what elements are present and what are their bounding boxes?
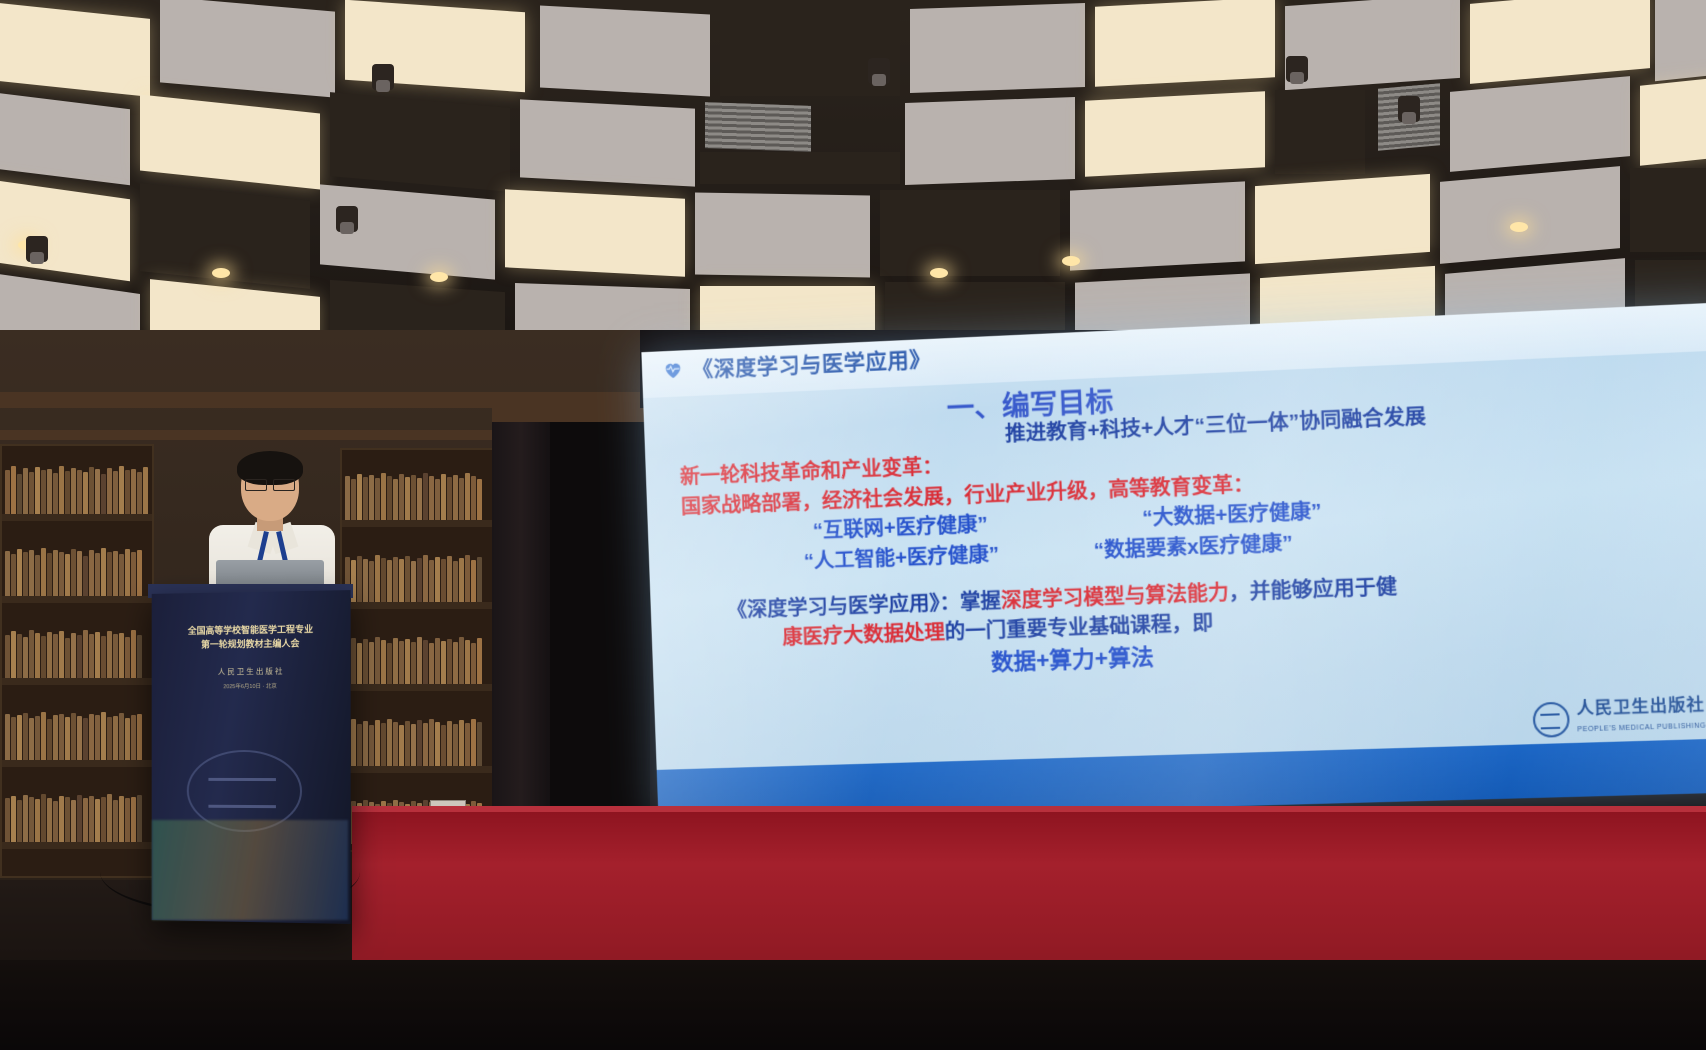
publisher-name-en: PEOPLE'S MEDICAL PUBLISHING HOUSE	[1577, 721, 1706, 733]
ceiling-downlight	[930, 268, 948, 278]
slide-line-5a: “人工智能+医疗健康”	[804, 544, 1000, 572]
photo-scene: 《深度学习与医学应用》 一、编写目标 推进教育+科技+人才“三位一体”协同融合发…	[0, 0, 1706, 1050]
podium-sign-line-2: 第一轮规划教材主编人会	[163, 637, 338, 653]
spotlight	[1398, 96, 1420, 122]
spotlight	[336, 206, 358, 232]
paragraph-seg-b: 深度学习模型与算法能力	[1001, 582, 1230, 613]
ceiling-downlight	[212, 268, 230, 278]
dark-doorway	[550, 418, 650, 838]
foreground-floor	[0, 960, 1706, 1050]
slide-body: 推进教育+科技+人才“三位一体”协同融合发展 新一轮科技革命和产业变革： 国家战…	[679, 395, 1706, 693]
paragraph-seg-a: 《深度学习与医学应用》：掌握	[727, 590, 1002, 622]
spotlight	[372, 64, 394, 90]
podium-light-reflection	[152, 820, 348, 920]
heart-pulse-icon	[662, 358, 685, 381]
ceiling-downlight	[1062, 256, 1080, 266]
paragraph-seg-c: ，并能够应用于健	[1228, 576, 1397, 605]
paragraph-seg-d: 康医疗大数据处理	[782, 622, 945, 650]
wall-trim	[492, 408, 652, 422]
wall-trim	[0, 392, 640, 408]
paragraph-seg-e: 的一门重要专业基础课程，即	[944, 613, 1213, 645]
wall-pillar	[492, 420, 550, 840]
bookshelf-right	[340, 448, 494, 852]
publisher-logo: 人民卫生出版社 PEOPLE'S MEDICAL PUBLISHING HOUS…	[1532, 696, 1706, 737]
publisher-name-cn: 人民卫生出版社	[1576, 697, 1705, 719]
podium-publisher: 人 民 卫 生 出 版 社	[163, 665, 338, 678]
projection-screen: 《深度学习与医学应用》 一、编写目标 推进教育+科技+人才“三位一体”协同融合发…	[650, 352, 1706, 822]
spotlight	[1286, 56, 1308, 82]
glasses-icon	[245, 479, 295, 489]
ceiling-downlight	[1510, 222, 1528, 232]
pmph-logo-icon	[1532, 702, 1570, 738]
spotlight	[26, 236, 48, 262]
slide-line-4b: “大数据+医疗健康”	[1142, 502, 1322, 530]
slide-line-5b: “数据要素x医疗健康”	[1093, 533, 1293, 561]
ceiling-downlight	[430, 272, 448, 282]
pmph-emblem-swoosh	[208, 778, 276, 808]
spotlight	[868, 58, 890, 84]
slide-line-4a: “互联网+医疗健康”	[813, 515, 989, 542]
podium-sign: 全国高等学校智能医学工程专业 第一轮规划教材主编人会 人 民 卫 生 出 版 社…	[163, 623, 338, 691]
podium-date-place: 2025年6月10日 · 北京	[163, 681, 338, 690]
bookshelf-left	[0, 444, 154, 878]
podium-sign-line-1: 全国高等学校智能医学工程专业	[163, 623, 338, 640]
